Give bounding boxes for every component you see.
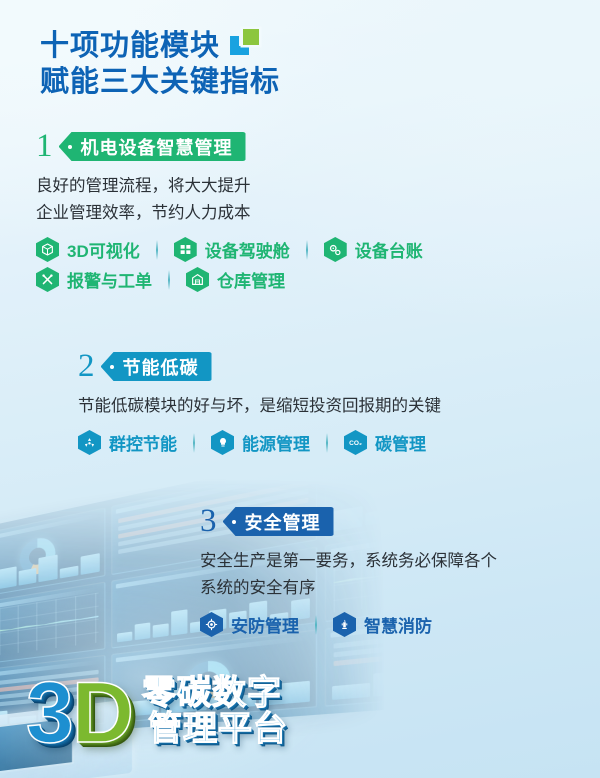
feature-tag-label: 设备驾驶舱 <box>205 237 290 262</box>
tag-divider <box>326 433 328 453</box>
recycle-icon <box>78 430 101 455</box>
lockup-3d-text: 3D <box>26 670 132 756</box>
wall-panel <box>0 581 105 665</box>
tag-divider <box>193 433 195 453</box>
feature-tag-list: 群控节能 能源管理 CO₂ 碳管理 <box>78 430 441 455</box>
section-badge-label: 机电设备智慧管理 <box>81 134 233 160</box>
page-title-line2: 赋能三大关键指标 <box>40 64 280 100</box>
section-description: 良好的管理流程，将大大提升 企业管理效率，节约人力成本 <box>36 173 423 227</box>
section-energy-saving: 2 节能低碳 节能低碳模块的好与坏，是缩短投资回报期的关键 群控节能 <box>78 350 441 460</box>
section-description-line2: 企业管理效率，节约人力成本 <box>36 200 423 227</box>
feature-tag-list: 安防管理 智慧消防 <box>200 612 497 637</box>
feature-tag-label: 仓库管理 <box>217 267 285 292</box>
section-header: 1 机电设备智慧管理 <box>36 130 423 163</box>
lockup-d: D <box>72 670 132 756</box>
section-description-line1: 良好的管理流程，将大大提升 <box>36 173 423 200</box>
page-title-line1: 十项功能模块 <box>40 28 220 64</box>
page-header: 十项功能模块 赋能三大关键指标 <box>40 28 280 100</box>
section-safety-management: 3 安全管理 安全生产是第一要务，系统务必保障各个 系统的安全有序 安防管理 <box>200 505 497 642</box>
warehouse-icon <box>186 267 209 292</box>
tag-divider <box>315 615 317 635</box>
svg-text:CO₂: CO₂ <box>349 440 362 447</box>
section-number: 3 <box>200 505 217 538</box>
section-description: 安全生产是第一要务，系统务必保障各个 系统的安全有序 <box>200 548 497 602</box>
feature-tag-label: 安防管理 <box>231 612 299 637</box>
section-header: 3 安全管理 <box>200 505 497 538</box>
section-number: 1 <box>36 130 53 163</box>
feature-tag-row: 3D可视化 设备驾驶舱 设备台账 <box>36 237 423 262</box>
tag-divider <box>156 240 158 260</box>
feature-tag[interactable]: 设备驾驶舱 <box>174 237 290 262</box>
section-mechanical-equipment: 1 机电设备智慧管理 良好的管理流程，将大大提升 企业管理效率，节约人力成本 3… <box>36 130 423 297</box>
feature-tag[interactable]: 智慧消防 <box>333 612 432 637</box>
feature-tag-row: 群控节能 能源管理 CO₂ 碳管理 <box>78 430 441 455</box>
section-badge-label: 节能低碳 <box>123 354 199 380</box>
tag-divider <box>168 270 170 290</box>
bulb-icon <box>211 430 234 455</box>
co2-icon: CO₂ <box>344 430 367 455</box>
section-badge-label: 安全管理 <box>245 509 321 535</box>
feature-tag-label: 智慧消防 <box>364 612 432 637</box>
feature-tag[interactable]: 3D可视化 <box>36 237 140 262</box>
brand-logo-icon <box>230 29 260 57</box>
section-badge: 安全管理 <box>223 507 334 536</box>
feature-tag-label: 能源管理 <box>242 430 310 455</box>
feature-tag-label: 报警与工单 <box>67 267 152 292</box>
feature-tag-label: 3D可视化 <box>67 237 140 262</box>
lockup-cn-line1: 零碳数字 <box>142 675 282 711</box>
feature-tag[interactable]: 安防管理 <box>200 612 299 637</box>
feature-tag[interactable]: CO₂ 碳管理 <box>344 430 426 455</box>
feature-tag[interactable]: 仓库管理 <box>186 267 285 292</box>
poster-root: 十项功能模块 赋能三大关键指标 1 机电设备智慧管理 良好的管理流程，将大大提升… <box>0 0 600 778</box>
camera-shield-icon <box>200 612 223 637</box>
wall-panel <box>0 507 105 597</box>
feature-tag[interactable]: 群控节能 <box>78 430 177 455</box>
feature-tag[interactable]: 报警与工单 <box>36 267 152 292</box>
section-header: 2 节能低碳 <box>78 350 441 383</box>
feature-tag-row: 报警与工单 仓库管理 <box>36 267 423 292</box>
platform-lockup: 3D 零碳数字 管理平台 <box>26 670 282 756</box>
feature-tag[interactable]: 能源管理 <box>211 430 310 455</box>
section-description-line1: 安全生产是第一要务，系统务必保障各个 <box>200 548 497 575</box>
fire-hydrant-icon <box>333 612 356 637</box>
gear-icon <box>324 237 347 262</box>
section-description-line2: 系统的安全有序 <box>200 575 497 602</box>
section-badge: 机电设备智慧管理 <box>59 132 246 161</box>
section-description-line1: 节能低碳模块的好与坏，是缩短投资回报期的关键 <box>78 393 441 420</box>
tag-divider <box>306 240 308 260</box>
feature-tag[interactable]: 设备台账 <box>324 237 423 262</box>
feature-tag-label: 碳管理 <box>375 430 426 455</box>
tools-alert-icon <box>36 267 59 292</box>
feature-tag-row: 安防管理 智慧消防 <box>200 612 497 637</box>
section-badge: 节能低碳 <box>101 352 212 381</box>
lockup-cn-line2: 管理平台 <box>148 711 288 747</box>
feature-tag-label: 群控节能 <box>109 430 177 455</box>
lockup-chinese: 零碳数字 管理平台 <box>142 675 282 747</box>
cube-3d-icon <box>36 237 59 262</box>
feature-tag-label: 设备台账 <box>355 237 423 262</box>
section-number: 2 <box>78 350 95 383</box>
lockup-three: 3 <box>26 670 72 756</box>
feature-tag-list: 3D可视化 设备驾驶舱 设备台账 <box>36 237 423 292</box>
section-description: 节能低碳模块的好与坏，是缩短投资回报期的关键 <box>78 393 441 420</box>
dashboard-icon <box>174 237 197 262</box>
